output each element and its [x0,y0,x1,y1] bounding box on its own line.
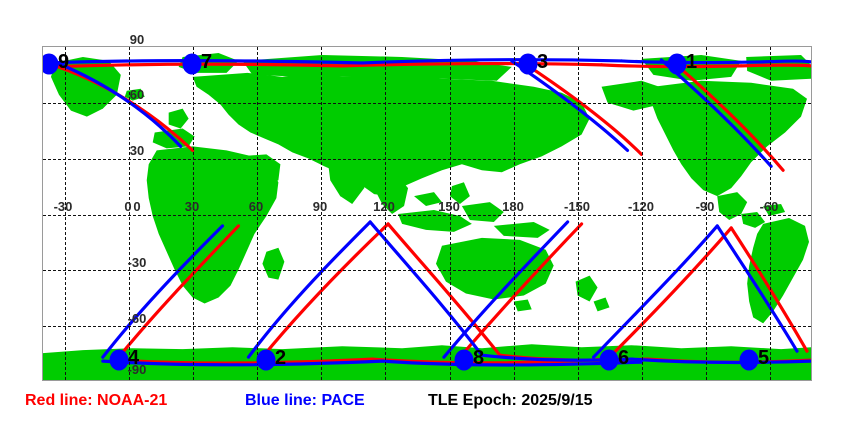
ground-track-map-page: 9 7 4 2 3 1 8 6 [0,0,850,425]
lon-tick-label: -30 [54,199,73,214]
lat-tick-label: 90 [130,32,144,47]
lon-tick-label: 120 [373,199,395,214]
marker-dot [740,350,759,371]
marker-label: 1 [686,52,697,72]
lat-tick-label: 0 [133,199,140,214]
lat-tick-label: -60 [128,311,147,326]
marker-dot [183,54,202,75]
marker-dot [519,54,538,75]
lon-tick-label: 30 [185,199,199,214]
lon-tick-label: -90 [696,199,715,214]
marker-dot [600,350,619,371]
lon-tick-label: -60 [760,199,779,214]
marker-label: 6 [618,348,629,368]
marker-dot [668,54,687,75]
marker-label: 9 [58,52,69,72]
legend-tle-epoch-label: TLE Epoch: 2025/9/15 [428,392,593,410]
lat-tick-label: 30 [130,143,144,158]
marker-label: 2 [275,348,286,368]
legend-red-line-label: Red line: NOAA-21 [25,392,167,410]
legend-blue-line-label: Blue line: PACE [245,392,365,410]
lon-tick-label: 0 [124,199,131,214]
lat-tick-label: 60 [130,87,144,102]
lat-tick-label: -30 [128,255,147,270]
lon-tick-label: 180 [502,199,524,214]
marker-dot [257,350,276,371]
marker-label: 8 [473,348,484,368]
legend: Red line: NOAA-21 Blue line: PACE TLE Ep… [0,392,850,422]
marker-dot [455,350,474,371]
lon-tick-label: 90 [313,199,327,214]
marker-label: 3 [537,52,548,72]
lon-tick-label: -120 [628,199,654,214]
marker-dot [110,350,129,371]
lon-tick-label: -150 [564,199,590,214]
lon-tick-label: 150 [438,199,460,214]
marker-label: 7 [201,52,212,72]
marker-label: 5 [758,348,769,368]
lon-tick-label: 60 [249,199,263,214]
lat-tick-label: -90 [128,362,147,377]
